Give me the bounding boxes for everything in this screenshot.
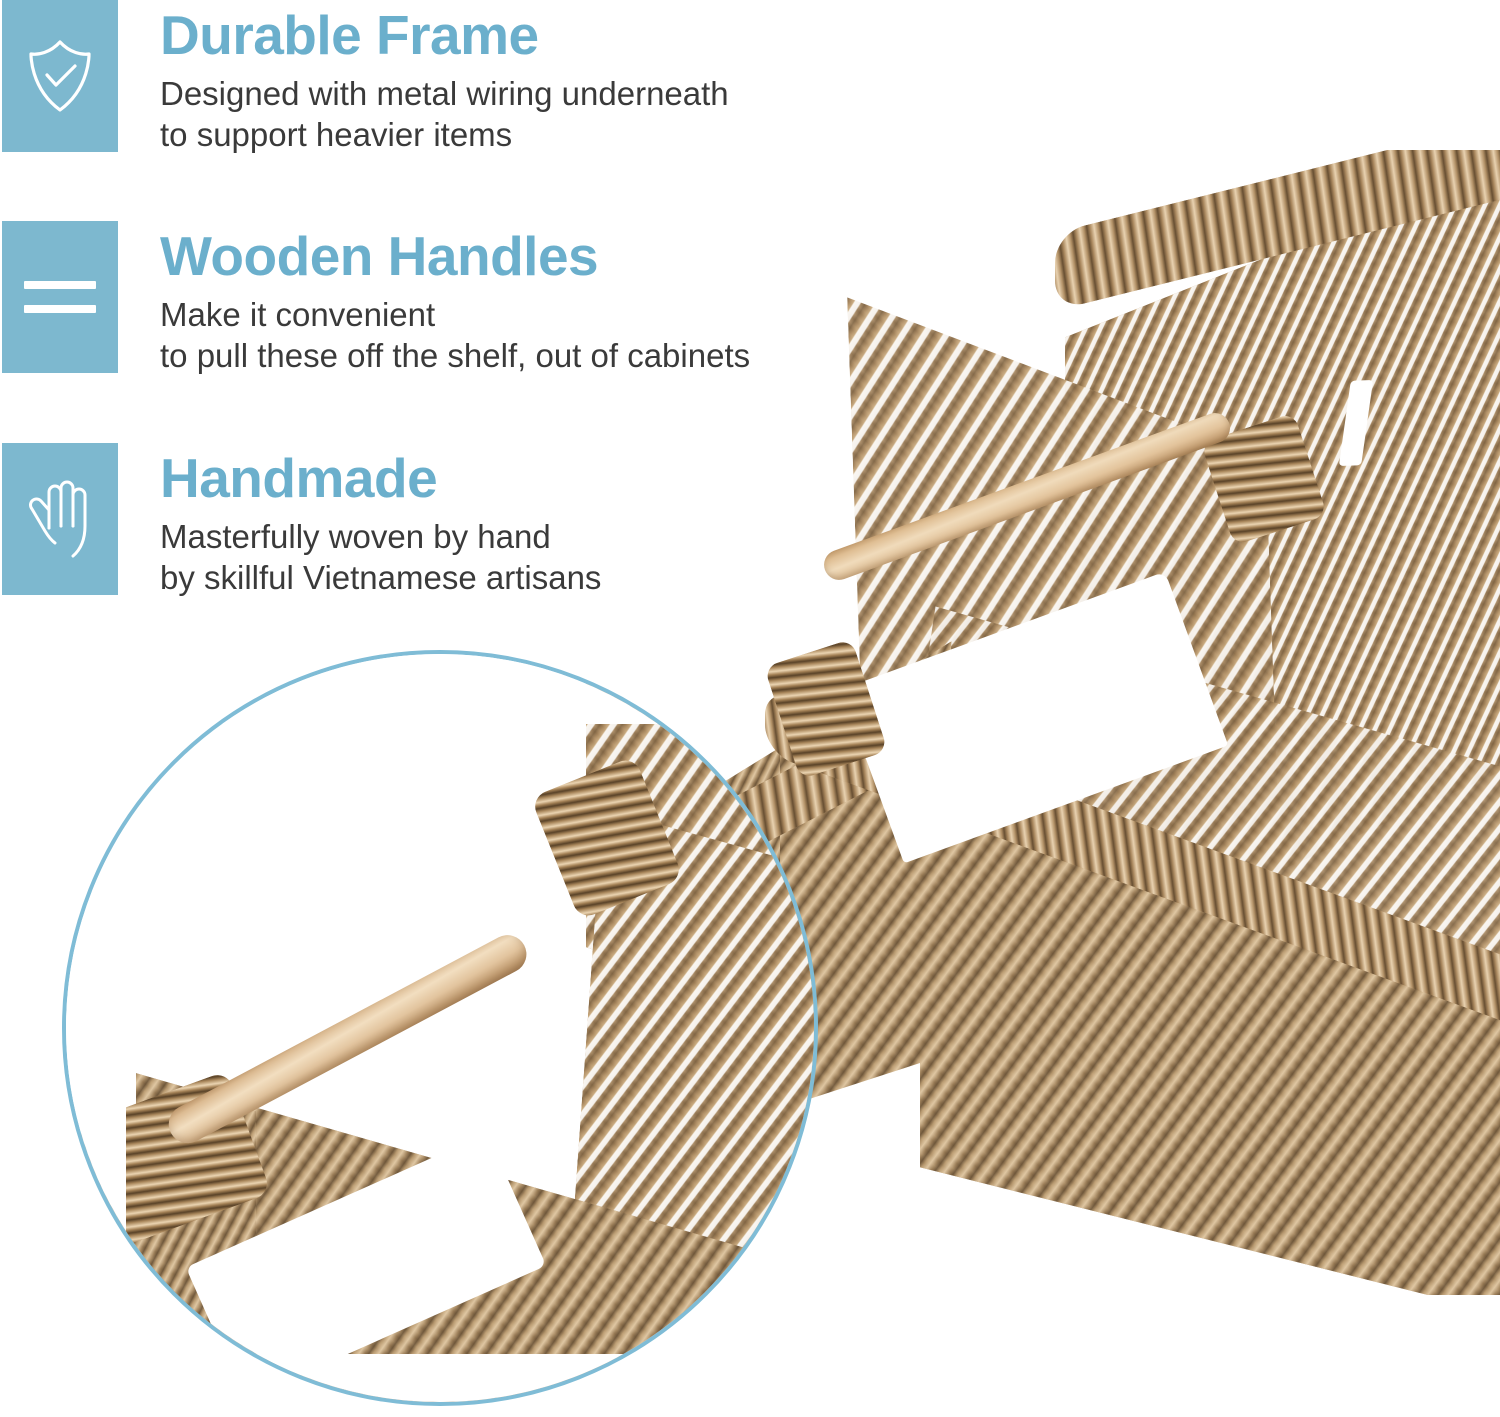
- shield-check-icon: [2, 0, 118, 152]
- open-hand-icon: [2, 443, 118, 595]
- feature-text-block: Handmade Masterfully woven by hand by sk…: [160, 443, 860, 599]
- feature-title: Handmade: [160, 443, 860, 506]
- feature-title: Durable Frame: [160, 0, 860, 63]
- lens-mask-left: [66, 654, 126, 1406]
- two-handles-icon: [2, 221, 118, 373]
- lens-wooden-dowel: [162, 928, 533, 1149]
- handle-closeup-lens: [62, 650, 818, 1406]
- lens-contents: [66, 654, 818, 1406]
- infographic-page: Durable Frame Designed with metal wiring…: [0, 0, 1500, 1417]
- feature-body: Make it convenient to pull these off the…: [160, 284, 860, 377]
- lens-mask-bottom: [66, 1354, 818, 1406]
- lens-mask-top: [66, 654, 818, 724]
- feature-text-block: Wooden Handles Make it convenient to pul…: [160, 221, 860, 377]
- feature-text-block: Durable Frame Designed with metal wiring…: [160, 0, 860, 156]
- feature-body: Designed with metal wiring underneath to…: [160, 63, 860, 156]
- feature-title: Wooden Handles: [160, 221, 860, 284]
- feature-body: Masterfully woven by hand by skillful Vi…: [160, 506, 860, 599]
